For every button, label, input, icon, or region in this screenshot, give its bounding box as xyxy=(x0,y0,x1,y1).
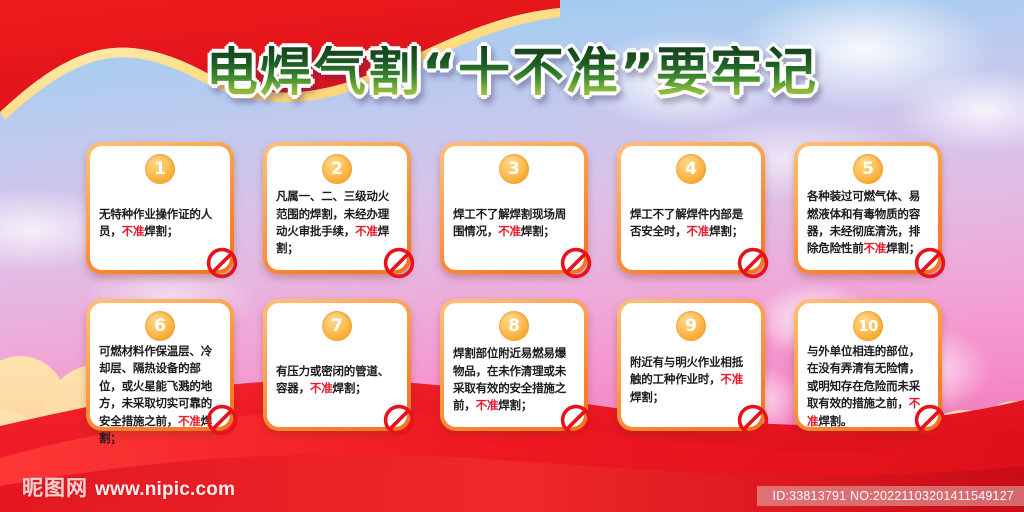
rule-card-10[interactable]: 10 与外单位相连的部位，在没有弄清有无险情，或明知存在危险而未采取有效的措施之… xyxy=(794,299,942,431)
watermark-brand: 昵图网 xyxy=(22,472,88,502)
prohibition-icon xyxy=(205,246,239,280)
rule-card-inner: 7 有压力或密闭的管道、容器，不准焊割； xyxy=(267,303,407,427)
rule-text: 无特种作业操作证的人员，不准焊割； xyxy=(99,186,221,260)
rule-text: 各种装过可燃气体、易燃液体和有毒物质的容器，未经彻底清洗，排除危险性前不准焊割； xyxy=(807,186,929,260)
poster-canvas: 电焊气割“十不准”要牢记 1 无特种作业操作证的人员，不准焊割； 2 凡属一、二… xyxy=(0,0,1024,512)
rule-text: 有压力或密闭的管道、容器，不准焊割； xyxy=(276,343,398,417)
rule-card-4[interactable]: 4 焊工不了解焊件内部是否安全时，不准焊割； xyxy=(617,142,765,274)
rule-text: 可燃材料作保温层、冷却层、隔热设备的部位，或火星能飞溅的地方，未采取切实可靠的安… xyxy=(99,343,221,448)
rule-text: 与外单位相连的部位，在没有弄清有无险情，或明知存在危险而未采取有效的措施之前，不… xyxy=(807,343,929,430)
rule-card-inner: 1 无特种作业操作证的人员，不准焊割； xyxy=(90,146,230,270)
rule-card-6[interactable]: 6 可燃材料作保温层、冷却层、隔热设备的部位，或火星能飞溅的地方，未采取切实可靠… xyxy=(86,299,234,431)
prohibition-icon xyxy=(736,403,770,437)
prohibition-icon xyxy=(559,246,593,280)
rule-text: 附近有与明火作业相抵触的工种作业时，不准焊割； xyxy=(630,343,752,417)
prohibition-icon xyxy=(736,246,770,280)
rule-card-7[interactable]: 7 有压力或密闭的管道、容器，不准焊割； xyxy=(263,299,411,431)
rule-card-inner: 9 附近有与明火作业相抵触的工种作业时，不准焊割； xyxy=(621,303,761,427)
rule-text: 焊工不了解焊件内部是否安全时，不准焊割； xyxy=(630,186,752,260)
rule-card-inner: 8 焊割部位附近易燃易爆物品，在未作清理或未采取有效的安全措施之前，不准焊割； xyxy=(444,303,584,427)
rule-text: 凡属一、二、三级动火范围的焊割，未经办理动火审批手续，不准焊割； xyxy=(276,186,398,260)
prohibition-icon xyxy=(205,403,239,437)
rule-card-5[interactable]: 5 各种装过可燃气体、易燃液体和有毒物质的容器，未经彻底清洗，排除危险性前不准焊… xyxy=(794,142,942,274)
rule-card-inner: 4 焊工不了解焊件内部是否安全时，不准焊割； xyxy=(621,146,761,270)
rule-card-inner: 5 各种装过可燃气体、易燃液体和有毒物质的容器，未经彻底清洗，排除危险性前不准焊… xyxy=(798,146,938,270)
image-id-bar: ID:33813791 NO:20221103201411549127 xyxy=(757,486,1024,506)
rule-card-inner: 3 焊工不了解焊割现场周围情况，不准焊割； xyxy=(444,146,584,270)
prohibition-icon xyxy=(913,246,947,280)
rule-text: 焊工不了解焊割现场周围情况，不准焊割； xyxy=(453,186,575,260)
prohibition-icon xyxy=(913,403,947,437)
watermark: 昵图网 www.nipic.com xyxy=(22,472,235,502)
watermark-url: www.nipic.com xyxy=(95,479,235,502)
rule-number-badge-8: 8 xyxy=(499,311,529,341)
rule-card-1[interactable]: 1 无特种作业操作证的人员，不准焊割； xyxy=(86,142,234,274)
rule-card-inner: 2 凡属一、二、三级动火范围的焊割，未经办理动火审批手续，不准焊割； xyxy=(267,146,407,270)
rule-card-inner: 6 可燃材料作保温层、冷却层、隔热设备的部位，或火星能飞溅的地方，未采取切实可靠… xyxy=(90,303,230,427)
prohibition-icon xyxy=(382,246,416,280)
rule-number-badge-10: 10 xyxy=(853,311,883,341)
rule-number-badge-6: 6 xyxy=(145,311,175,341)
rule-number-badge-5: 5 xyxy=(853,154,883,184)
rule-card-8[interactable]: 8 焊割部位附近易燃易爆物品，在未作清理或未采取有效的安全措施之前，不准焊割； xyxy=(440,299,588,431)
rule-text: 焊割部位附近易燃易爆物品，在未作清理或未采取有效的安全措施之前，不准焊割； xyxy=(453,343,575,417)
rule-card-3[interactable]: 3 焊工不了解焊割现场周围情况，不准焊割； xyxy=(440,142,588,274)
page-title: 电焊气割“十不准”要牢记 xyxy=(206,46,818,101)
title-container: 电焊气割“十不准”要牢记 xyxy=(0,46,1024,101)
prohibition-icon xyxy=(382,403,416,437)
rule-number-badge-2: 2 xyxy=(322,154,352,184)
rule-card-inner: 10 与外单位相连的部位，在没有弄清有无险情，或明知存在危险而未采取有效的措施之… xyxy=(798,303,938,427)
rule-number-badge-1: 1 xyxy=(145,154,175,184)
rule-number-badge-7: 7 xyxy=(322,311,352,341)
rule-card-9[interactable]: 9 附近有与明火作业相抵触的工种作业时，不准焊割； xyxy=(617,299,765,431)
rule-number-badge-4: 4 xyxy=(676,154,706,184)
rules-grid: 1 无特种作业操作证的人员，不准焊割； 2 凡属一、二、三级动火范围的焊割，未经… xyxy=(86,142,942,431)
rule-number-badge-9: 9 xyxy=(676,311,706,341)
rule-card-2[interactable]: 2 凡属一、二、三级动火范围的焊割，未经办理动火审批手续，不准焊割； xyxy=(263,142,411,274)
rule-number-badge-3: 3 xyxy=(499,154,529,184)
prohibition-icon xyxy=(559,403,593,437)
